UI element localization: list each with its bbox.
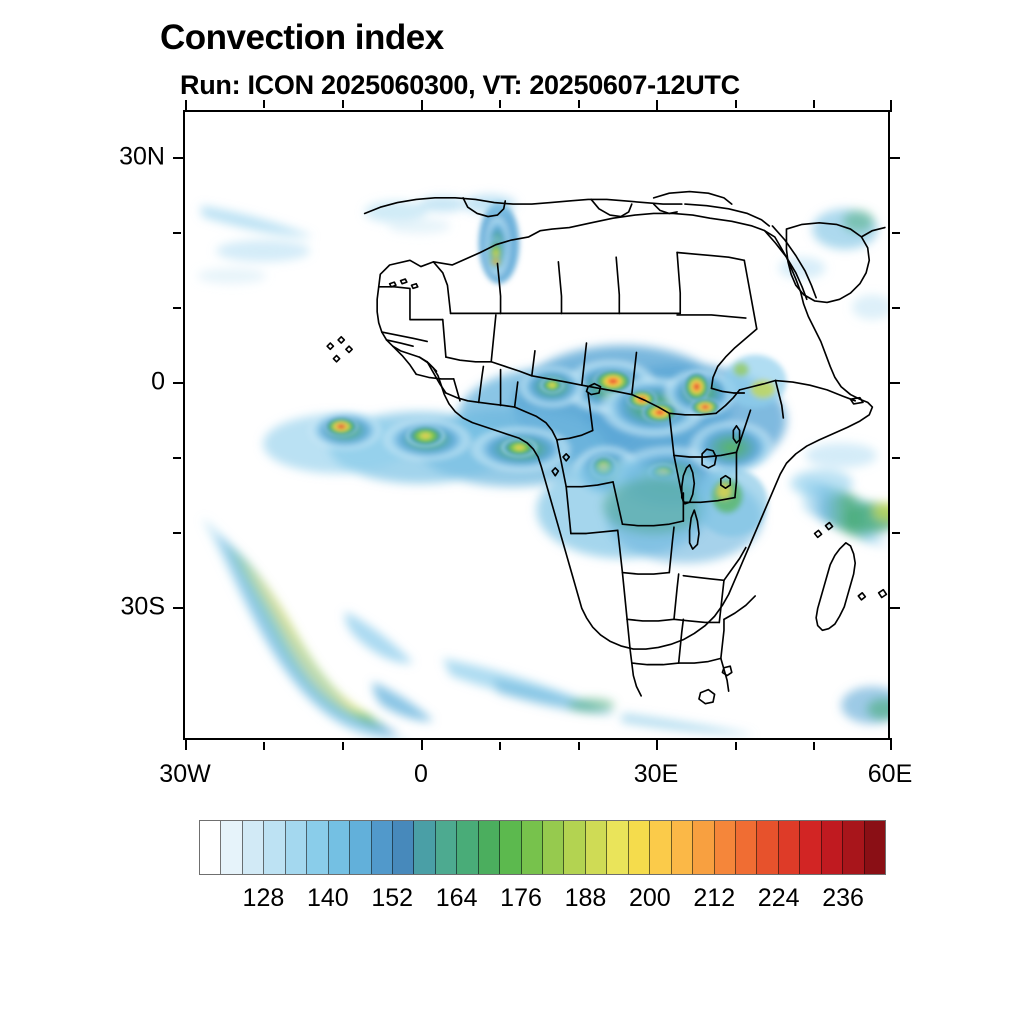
colorbar-cell [500, 821, 521, 874]
xtick-40e [735, 742, 737, 750]
colorbar-labels: 128140152164176188200212224236 [199, 884, 886, 920]
xtick-top-20w [263, 100, 265, 108]
xtick-top-60e [890, 100, 892, 112]
colorbar-cell [564, 821, 585, 874]
page-title: Convection index [160, 18, 444, 58]
colorbar-tick-label: 188 [565, 884, 607, 913]
colorbar-tick-label: 164 [436, 884, 478, 913]
ytick-30n [173, 157, 185, 159]
ytick-30s [173, 607, 185, 609]
page-subtitle: Run: ICON 2025060300, VT: 20250607-12UTC [180, 70, 740, 101]
xtick-top-30e [656, 100, 658, 112]
colorbar-tick-label: 224 [758, 884, 800, 913]
colorbar-cell [779, 821, 800, 874]
ytick-right-0 [888, 382, 900, 384]
xtick-0 [421, 738, 423, 750]
colorbar-tick-label: 128 [243, 884, 285, 913]
colorbar-tick-label: 200 [629, 884, 671, 913]
colorbar [199, 820, 886, 875]
xtick-top-30w [185, 100, 187, 112]
xtick-30w [185, 738, 187, 750]
ylabel-30s: 30S [121, 593, 165, 622]
map-canvas [185, 112, 888, 738]
colorbar-cell [607, 821, 628, 874]
colorbar-cell [457, 821, 478, 874]
xtick-top-10e [499, 100, 501, 108]
colorbar-cell [286, 821, 307, 874]
colorbar-tick-label: 152 [371, 884, 413, 913]
xtick-20w [263, 742, 265, 750]
colorbar-cell [693, 821, 714, 874]
colorbar-cell [393, 821, 414, 874]
colorbar-cell [372, 821, 393, 874]
xlabel-0: 0 [414, 760, 428, 789]
map-svg [185, 112, 888, 738]
colorbar-tick-label: 212 [693, 884, 735, 913]
ylabel-0: 0 [151, 368, 165, 397]
colorbar-cell [243, 821, 264, 874]
ytick-20s [173, 532, 181, 534]
xtick-50e [813, 742, 815, 750]
colorbar-cell [307, 821, 328, 874]
ytick-10s [173, 457, 181, 459]
ytick-20n [173, 232, 181, 234]
colorbar-cell [221, 821, 242, 874]
colorbar-cell [736, 821, 757, 874]
colorbar-cell [522, 821, 543, 874]
xtick-60e [890, 738, 892, 750]
colorbar-cell [843, 821, 864, 874]
ylabel-30n: 30N [119, 143, 165, 172]
colorbar-cell [264, 821, 285, 874]
colorbar-tick-label: 176 [500, 884, 542, 913]
colorbar-tick-label: 140 [307, 884, 349, 913]
xtick-top-0 [421, 100, 423, 112]
colorbar-cell [822, 821, 843, 874]
xlabel-30e: 30E [634, 760, 678, 789]
colorbar-cell [543, 821, 564, 874]
colorbar-cell [865, 821, 885, 874]
colorbar-cell [672, 821, 693, 874]
xtick-top-40e [735, 100, 737, 108]
ytick-10n [173, 307, 181, 309]
colorbar-cell [629, 821, 650, 874]
colorbar-cell [757, 821, 778, 874]
xtick-10w [342, 742, 344, 750]
colorbar-tick-label: 236 [822, 884, 864, 913]
colorbar-cell [436, 821, 457, 874]
colorbar-cell [800, 821, 821, 874]
ytick-right-20s [892, 532, 900, 534]
colorbar-cell [650, 821, 671, 874]
xtick-30e [656, 738, 658, 750]
xtick-top-50e [813, 100, 815, 108]
colorbar-cell [200, 821, 221, 874]
ytick-right-10s [892, 457, 900, 459]
xtick-top-20e [578, 100, 580, 108]
colorbar-cell [329, 821, 350, 874]
ytick-right-20n [892, 232, 900, 234]
xtick-20e [578, 742, 580, 750]
ytick-right-10n [892, 307, 900, 309]
colorbar-cell [479, 821, 500, 874]
map-plot-area: 30N 0 30S 30W 0 30E 60E [183, 110, 890, 740]
xtick-top-10w [342, 100, 344, 108]
colorbar-cell [414, 821, 435, 874]
xlabel-30w: 30W [159, 760, 210, 789]
colorbar-cell [586, 821, 607, 874]
colorbar-cell [350, 821, 371, 874]
colorbar-cell [715, 821, 736, 874]
ytick-right-30s [888, 607, 900, 609]
ytick-0 [173, 382, 185, 384]
ytick-right-30n [888, 157, 900, 159]
xtick-10e [499, 742, 501, 750]
xlabel-60e: 60E [868, 760, 912, 789]
